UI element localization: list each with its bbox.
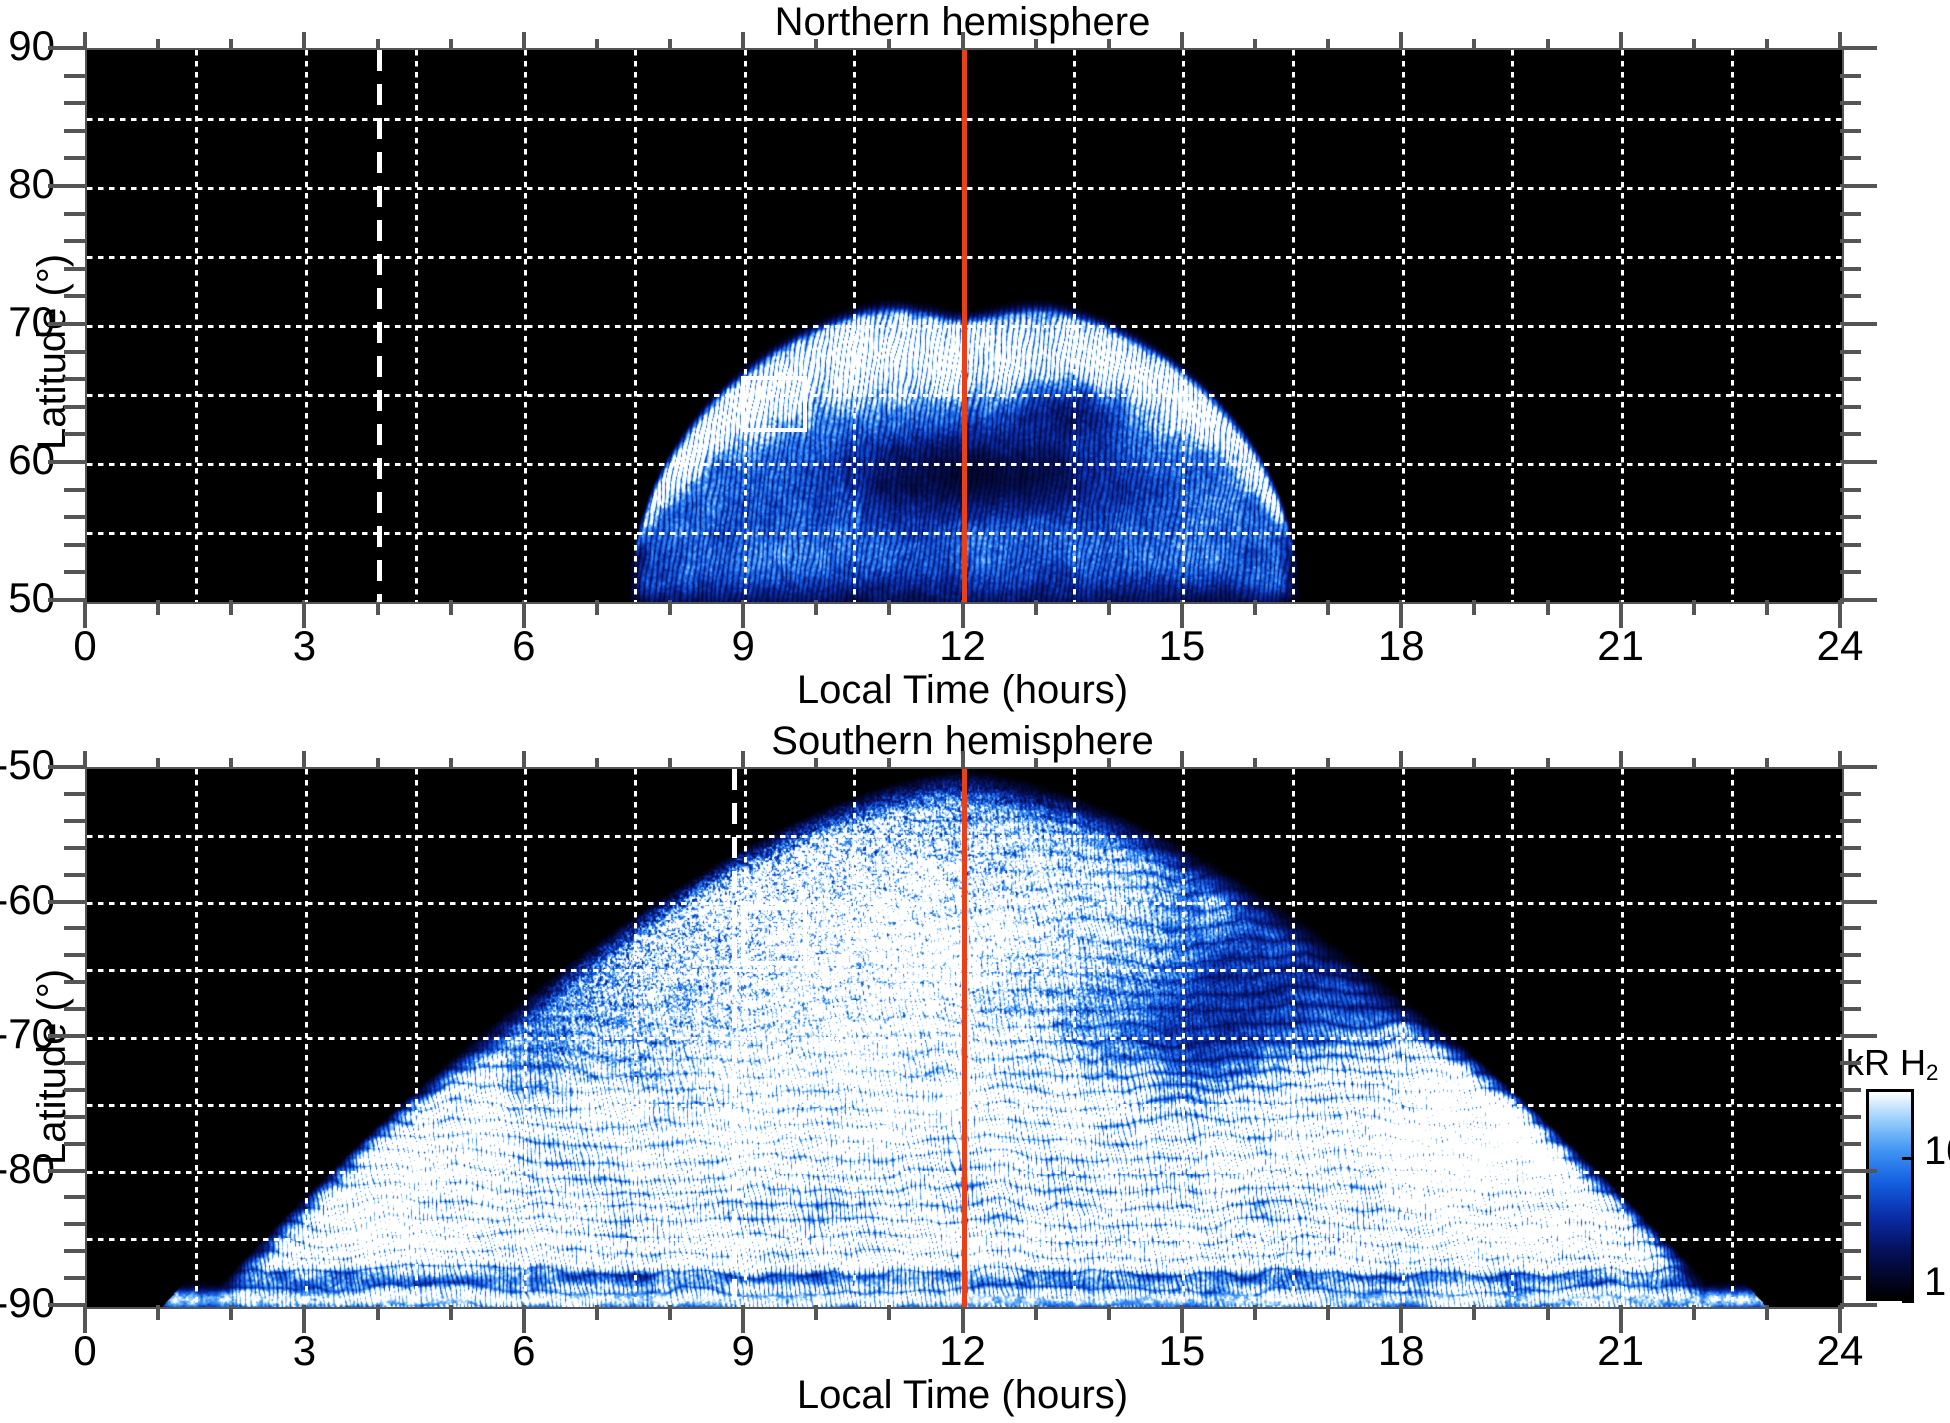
south-xtick-minor: [668, 1305, 672, 1320]
south-xtick-label: 24: [1780, 1327, 1900, 1375]
north-ytick-minor-right: [1840, 267, 1861, 271]
north-xtick-major: [1399, 600, 1403, 628]
south-xtick-minor-top: [1326, 758, 1330, 767]
south-ytick-minor-right: [1840, 1061, 1861, 1065]
north-xtick-minor: [1326, 600, 1330, 615]
south-ytick-major: [48, 765, 85, 769]
south-xtick-minor-top: [1692, 758, 1696, 767]
north-xtick-minor-top: [376, 39, 380, 48]
plot-area-northern: [85, 48, 1844, 604]
north-ytick-minor-right: [1840, 570, 1861, 574]
north-xtick-minor-top: [449, 39, 453, 48]
north-ytick-minor: [64, 212, 85, 216]
south-noon-marker-line: [962, 769, 967, 1307]
north-xtick-minor: [1692, 600, 1696, 615]
south-xtick-minor-top: [1034, 758, 1038, 767]
north-xtick-major: [741, 600, 745, 628]
north-ytick-minor: [64, 377, 85, 381]
south-ytick-minor-right: [1840, 819, 1861, 823]
south-ytick-minor: [64, 1195, 85, 1199]
north-xtick-minor: [668, 600, 672, 615]
south-ytick-minor: [64, 1061, 85, 1065]
north-xtick-minor: [229, 600, 233, 615]
south-xtick-minor: [1546, 1305, 1550, 1320]
north-xtick-label: 15: [1122, 622, 1242, 670]
south-xtick-minor-top: [1253, 758, 1257, 767]
south-ytick-major-right: [1840, 1169, 1877, 1173]
north-ytick-minor: [64, 405, 85, 409]
north-xtick-minor: [887, 600, 891, 615]
north-ytick-label: 60: [0, 436, 55, 484]
colorbar-gradient: [1866, 1089, 1914, 1301]
south-ytick-major-right: [1840, 900, 1877, 904]
south-xtick-label: 18: [1341, 1327, 1461, 1375]
colorbar-tick-high: 10: [1924, 1129, 1950, 1174]
north-xtick-minor-top: [595, 39, 599, 48]
north-xtick-minor: [1472, 600, 1476, 615]
south-xtick-minor: [1326, 1305, 1330, 1320]
south-ytick-minor-right: [1840, 980, 1861, 984]
south-xtick-minor-top: [229, 758, 233, 767]
south-xtick-major-top: [302, 751, 306, 767]
north-ytick-minor-right: [1840, 350, 1861, 354]
north-xtick-minor: [1765, 600, 1769, 615]
south-xtick-minor-top: [814, 758, 818, 767]
south-xtick-label: 21: [1561, 1327, 1681, 1375]
south-xtick-minor: [1253, 1305, 1257, 1320]
north-ytick-minor: [64, 74, 85, 78]
north-xtick-minor: [1034, 600, 1038, 615]
south-xtick-minor: [814, 1305, 818, 1320]
south-ytick-minor-right: [1840, 1276, 1861, 1280]
south-ytick-minor: [64, 873, 85, 877]
north-xtick-major-top: [741, 32, 745, 48]
north-ytick-minor: [64, 129, 85, 133]
north-xtick-major: [961, 600, 965, 628]
south-xtick-major-top: [1838, 751, 1842, 767]
north-xtick-major: [83, 600, 87, 628]
north-ytick-minor: [64, 101, 85, 105]
south-xtick-minor: [1034, 1305, 1038, 1320]
north-xtick-minor-top: [1472, 39, 1476, 48]
north-ytick-minor-right: [1840, 377, 1861, 381]
north-ytick-label: 80: [0, 160, 55, 208]
north-xtick-major-top: [1619, 32, 1623, 48]
north-xtick-minor: [1253, 600, 1257, 615]
south-ytick-minor-right: [1840, 1007, 1861, 1011]
south-xtick-major: [1619, 1305, 1623, 1333]
y-axis-label-southern: Latitude (°): [30, 969, 75, 1165]
north-xtick-minor: [1107, 600, 1111, 615]
north-ytick-minor: [64, 350, 85, 354]
north-xtick-minor-top: [668, 39, 672, 48]
x-axis-label-northern: Local Time (hours): [85, 668, 1840, 713]
north-ytick-minor: [64, 267, 85, 271]
north-ytick-label: 70: [0, 298, 55, 346]
north-ytick-major: [48, 322, 85, 326]
north-xtick-minor-top: [1034, 39, 1038, 48]
south-ytick-major-right: [1840, 765, 1877, 769]
south-xtick-label: 6: [464, 1327, 584, 1375]
south-ytick-minor-right: [1840, 926, 1861, 930]
south-xtick-major: [83, 1305, 87, 1333]
north-region-box: [741, 376, 807, 433]
south-ytick-minor-right: [1840, 1249, 1861, 1253]
north-ytick-minor-right: [1840, 488, 1861, 492]
south-xtick-minor: [1765, 1305, 1769, 1320]
south-xtick-label: 3: [244, 1327, 364, 1375]
north-xtick-major: [1838, 600, 1842, 628]
south-ytick-minor-right: [1840, 1195, 1861, 1199]
south-xtick-minor: [229, 1305, 233, 1320]
north-ytick-minor-right: [1840, 294, 1861, 298]
north-ytick-minor-right: [1840, 543, 1861, 547]
south-xtick-major-top: [741, 751, 745, 767]
north-xtick-minor: [595, 600, 599, 615]
north-ytick-minor-right: [1840, 129, 1861, 133]
south-ytick-minor-right: [1840, 873, 1861, 877]
south-ytick-minor-right: [1840, 1088, 1861, 1092]
north-ytick-minor: [64, 432, 85, 436]
colorbar-tickmark: [1902, 1157, 1914, 1160]
plot-area-southern: [85, 767, 1844, 1309]
north-ytick-minor: [64, 515, 85, 519]
north-xtick-major-top: [1838, 32, 1842, 48]
south-xtick-minor: [1107, 1305, 1111, 1320]
north-xtick-minor-top: [156, 39, 160, 48]
south-ytick-minor: [64, 953, 85, 957]
south-xtick-major-top: [83, 751, 87, 767]
north-ytick-minor: [64, 543, 85, 547]
south-xtick-minor: [1472, 1305, 1476, 1320]
south-xtick-major: [1838, 1305, 1842, 1333]
north-ytick-minor-right: [1840, 212, 1861, 216]
south-ytick-major: [48, 1169, 85, 1173]
south-ytick-minor-right: [1840, 1115, 1861, 1119]
colorbar-tickmark: [1902, 1300, 1914, 1303]
south-ytick-label: -80: [0, 1145, 55, 1193]
x-axis-label-southern: Local Time (hours): [85, 1373, 1840, 1418]
south-xtick-label: 0: [25, 1327, 145, 1375]
north-xtick-minor-top: [1692, 39, 1696, 48]
north-xtick-major: [1619, 600, 1623, 628]
north-ytick-major-right: [1840, 184, 1877, 188]
south-xtick-minor-top: [449, 758, 453, 767]
south-xtick-major: [1399, 1305, 1403, 1333]
north-ytick-minor-right: [1840, 515, 1861, 519]
south-ytick-minor-right: [1840, 1222, 1861, 1226]
south-ytick-major-right: [1840, 1034, 1877, 1038]
south-xtick-minor: [156, 1305, 160, 1320]
colorbar-tick-low: 1: [1924, 1260, 1946, 1305]
south-xtick-label: 9: [683, 1327, 803, 1375]
north-noon-marker-line: [962, 50, 967, 602]
north-xtick-minor-top: [229, 39, 233, 48]
north-xtick-minor-top: [1765, 39, 1769, 48]
north-ytick-major: [48, 184, 85, 188]
south-xtick-major-top: [1619, 751, 1623, 767]
north-xtick-minor: [376, 600, 380, 615]
north-xtick-major: [522, 600, 526, 628]
south-xtick-label: 15: [1122, 1327, 1242, 1375]
north-ytick-minor: [64, 294, 85, 298]
north-ytick-minor-right: [1840, 156, 1861, 160]
north-ytick-major-right: [1840, 46, 1877, 50]
north-ytick-major-right: [1840, 460, 1877, 464]
south-xtick-minor: [376, 1305, 380, 1320]
south-ytick-minor: [64, 1115, 85, 1119]
north-ytick-minor-right: [1840, 432, 1861, 436]
south-region-box: [741, 906, 807, 965]
south-ytick-minor-right: [1840, 792, 1861, 796]
north-ytick-minor-right: [1840, 239, 1861, 243]
north-ytick-minor: [64, 239, 85, 243]
south-ytick-minor: [64, 846, 85, 850]
south-ytick-major: [48, 1034, 85, 1038]
south-xtick-major: [522, 1305, 526, 1333]
south-ytick-minor-right: [1840, 1142, 1861, 1146]
south-ytick-minor: [64, 1088, 85, 1092]
north-ytick-major-right: [1840, 322, 1877, 326]
north-xtick-minor-top: [1107, 39, 1111, 48]
south-ytick-label: -50: [0, 741, 55, 789]
north-xtick-minor: [1546, 600, 1550, 615]
north-xtick-minor-top: [814, 39, 818, 48]
north-ytick-minor: [64, 156, 85, 160]
north-xtick-major: [302, 600, 306, 628]
south-xtick-major-top: [522, 751, 526, 767]
south-ytick-minor: [64, 1007, 85, 1011]
south-xtick-major: [302, 1305, 306, 1333]
north-xtick-major-top: [83, 32, 87, 48]
north-xtick-label: 24: [1780, 622, 1900, 670]
south-ytick-minor: [64, 792, 85, 796]
south-xtick-major-top: [961, 751, 965, 767]
south-ytick-minor: [64, 1142, 85, 1146]
south-ytick-minor: [64, 1276, 85, 1280]
south-ytick-minor: [64, 926, 85, 930]
south-xtick-major-top: [1180, 751, 1184, 767]
south-ytick-minor: [64, 1222, 85, 1226]
south-xtick-minor-top: [1765, 758, 1769, 767]
south-ytick-minor: [64, 819, 85, 823]
south-xtick-minor-top: [1546, 758, 1550, 767]
north-ytick-major: [48, 598, 85, 602]
north-xtick-minor-top: [887, 39, 891, 48]
south-ytick-label: -90: [0, 1279, 55, 1327]
north-ytick-major: [48, 46, 85, 50]
south-xtick-minor-top: [668, 758, 672, 767]
south-xtick-minor: [449, 1305, 453, 1320]
north-xtick-label: 12: [903, 622, 1023, 670]
south-xtick-minor-top: [887, 758, 891, 767]
colorbar-title-subscript: 2: [1926, 1060, 1938, 1085]
north-xtick-minor-top: [1326, 39, 1330, 48]
south-xtick-minor-top: [595, 758, 599, 767]
north-ytick-label: 50: [0, 574, 55, 622]
north-xtick-major-top: [302, 32, 306, 48]
north-ytick-major: [48, 460, 85, 464]
south-ytick-minor-right: [1840, 846, 1861, 850]
south-dashed-marker-line: [732, 769, 737, 1307]
north-ytick-minor: [64, 570, 85, 574]
south-ytick-minor-right: [1840, 953, 1861, 957]
south-ytick-label: -70: [0, 1010, 55, 1058]
north-xtick-minor-top: [1546, 39, 1550, 48]
south-ytick-label: -60: [0, 876, 55, 924]
north-xtick-minor-top: [1253, 39, 1257, 48]
south-xtick-minor-top: [1472, 758, 1476, 767]
north-ytick-major-right: [1840, 598, 1877, 602]
north-xtick-label: 6: [464, 622, 584, 670]
south-xtick-minor-top: [156, 758, 160, 767]
north-xtick-label: 18: [1341, 622, 1461, 670]
south-xtick-minor: [1692, 1305, 1696, 1320]
south-xtick-major: [1180, 1305, 1184, 1333]
north-xtick-label: 9: [683, 622, 803, 670]
south-ytick-minor: [64, 1249, 85, 1253]
north-xtick-major-top: [1399, 32, 1403, 48]
north-ytick-minor-right: [1840, 405, 1861, 409]
north-xtick-label: 0: [25, 622, 145, 670]
south-xtick-minor: [887, 1305, 891, 1320]
north-xtick-minor: [156, 600, 160, 615]
south-xtick-minor-top: [376, 758, 380, 767]
south-ytick-minor: [64, 980, 85, 984]
south-xtick-major-top: [1399, 751, 1403, 767]
north-xtick-major-top: [961, 32, 965, 48]
south-ytick-major-right: [1840, 1303, 1877, 1307]
north-ytick-label: 90: [0, 22, 55, 70]
north-xtick-label: 3: [244, 622, 364, 670]
north-xtick-minor: [449, 600, 453, 615]
south-ytick-major: [48, 900, 85, 904]
south-ytick-major: [48, 1303, 85, 1307]
south-xtick-label: 12: [903, 1327, 1023, 1375]
south-xtick-major: [741, 1305, 745, 1333]
south-xtick-minor: [595, 1305, 599, 1320]
north-xtick-major-top: [522, 32, 526, 48]
north-xtick-major: [1180, 600, 1184, 628]
north-dashed-marker-line: [377, 50, 382, 602]
north-xtick-minor: [814, 600, 818, 615]
north-ytick-minor-right: [1840, 101, 1861, 105]
north-xtick-major-top: [1180, 32, 1184, 48]
north-xtick-label: 21: [1561, 622, 1681, 670]
south-xtick-minor-top: [1107, 758, 1111, 767]
north-ytick-minor-right: [1840, 74, 1861, 78]
south-xtick-major: [961, 1305, 965, 1333]
north-ytick-minor: [64, 488, 85, 492]
